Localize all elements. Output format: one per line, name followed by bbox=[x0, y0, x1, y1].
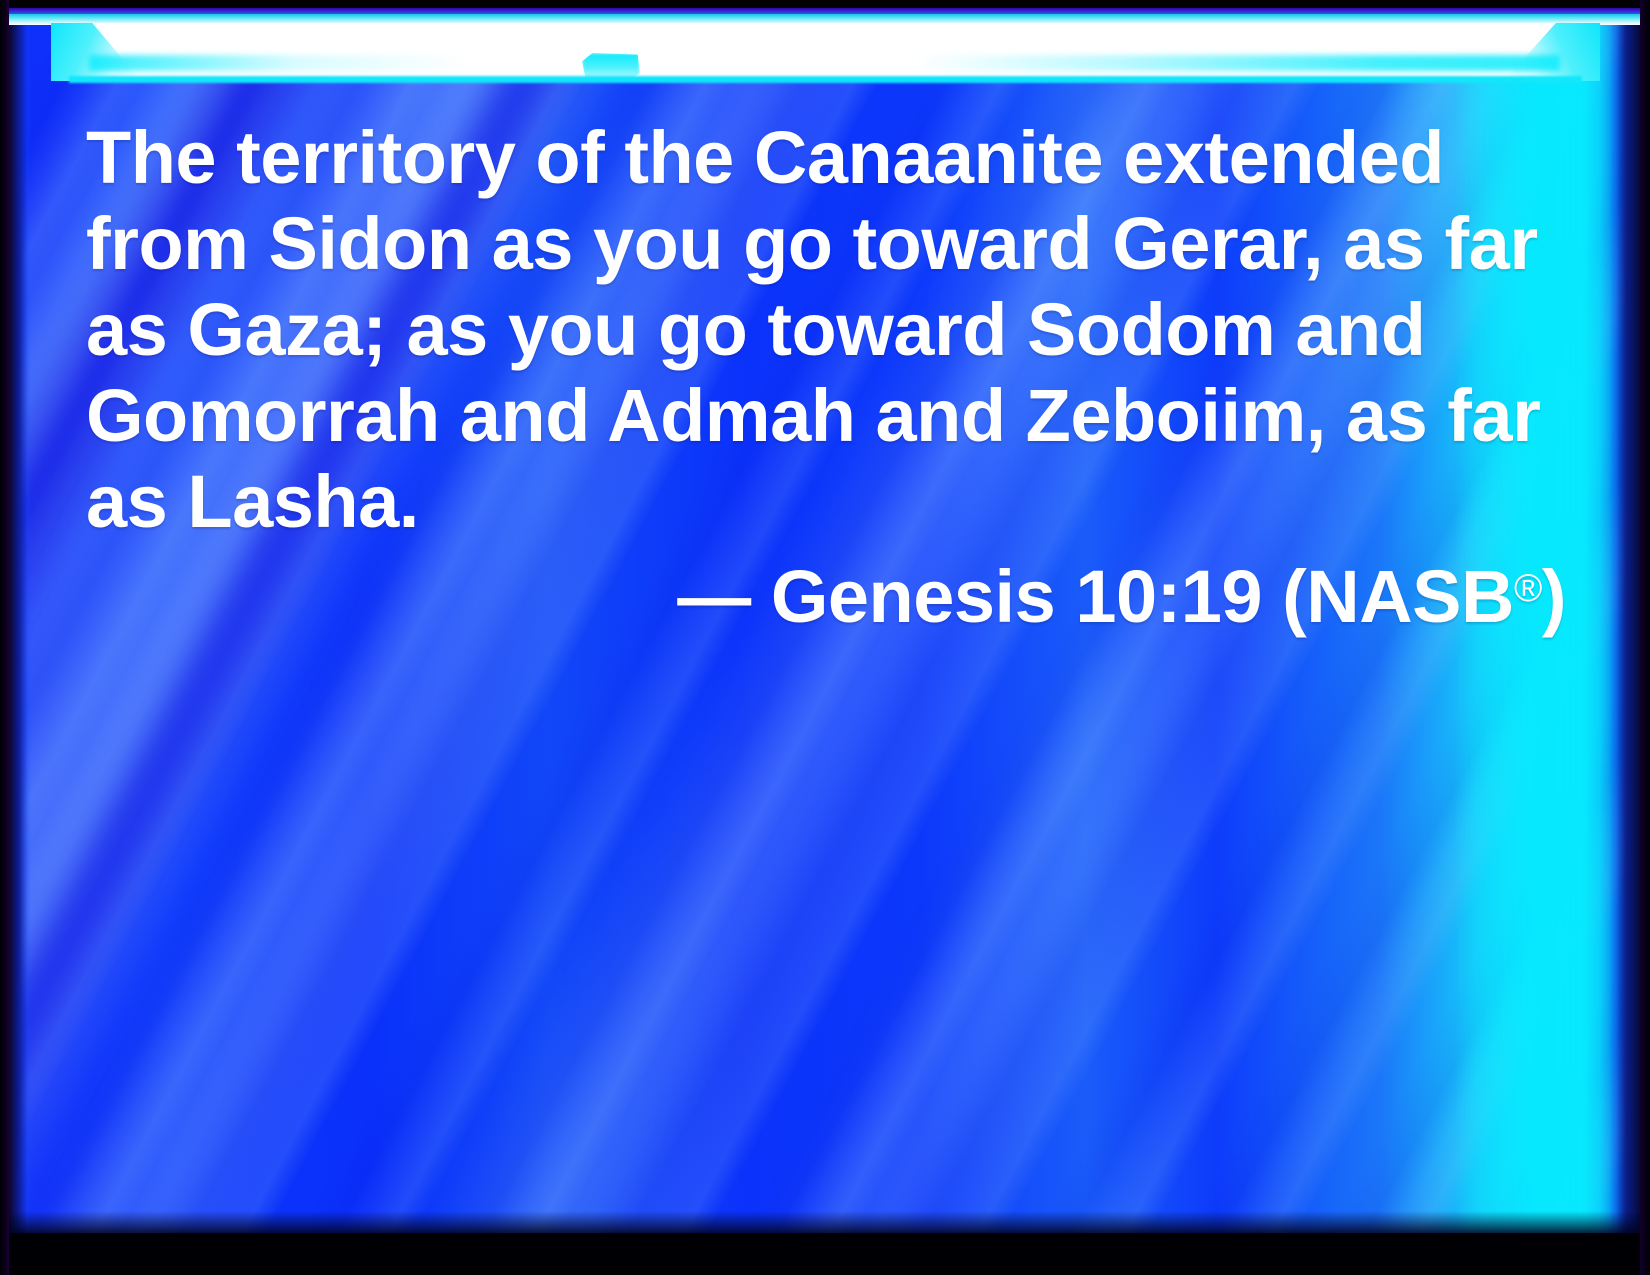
verse-line-3: as Gaza; as you go toward Sodom and bbox=[86, 287, 1566, 373]
attribution-translation-open: (NASB bbox=[1282, 555, 1514, 638]
frame-border-top bbox=[0, 0, 1650, 8]
attribution-book: Genesis bbox=[771, 555, 1055, 638]
verse-attribution: — Genesis 10:19 (NASB®) bbox=[86, 546, 1568, 640]
verse-text-block: The territory of the Canaanite extended … bbox=[86, 115, 1566, 545]
frame-border-left bbox=[0, 0, 9, 1275]
highlight-band-inner-streak bbox=[89, 55, 1560, 71]
highlight-band-white-core bbox=[75, 23, 1572, 81]
bottom-edge-shadow bbox=[9, 1211, 1640, 1233]
frame-border-bottom bbox=[0, 1233, 1650, 1275]
verse-line-2: from Sidon as you go toward Gerar, as fa… bbox=[86, 201, 1566, 287]
right-edge-shadow bbox=[1610, 8, 1640, 1233]
top-violet-hairline bbox=[0, 8, 1650, 14]
left-edge-shadow bbox=[9, 8, 31, 1233]
attribution-spacer-1 bbox=[751, 555, 771, 638]
attribution-spacer-3 bbox=[1262, 555, 1282, 638]
attribution-spacer-2 bbox=[1055, 555, 1075, 638]
attribution-dash: — bbox=[677, 555, 751, 638]
attribution-translation-close: ) bbox=[1542, 555, 1566, 638]
registered-trademark-icon: ® bbox=[1514, 567, 1542, 610]
verse-line-5: as Lasha. bbox=[86, 459, 1566, 545]
verse-image-canvas: The territory of the Canaanite extended … bbox=[0, 0, 1650, 1275]
highlight-band-baseline bbox=[69, 76, 1582, 83]
attribution-reference: 10:19 bbox=[1075, 555, 1262, 638]
verse-line-1: The territory of the Canaanite extended bbox=[86, 115, 1566, 201]
frame-border-right bbox=[1640, 0, 1650, 1275]
verse-line-4: Gomorrah and Admah and Zeboiim, as far bbox=[86, 373, 1566, 459]
top-highlight-band bbox=[9, 13, 1640, 85]
